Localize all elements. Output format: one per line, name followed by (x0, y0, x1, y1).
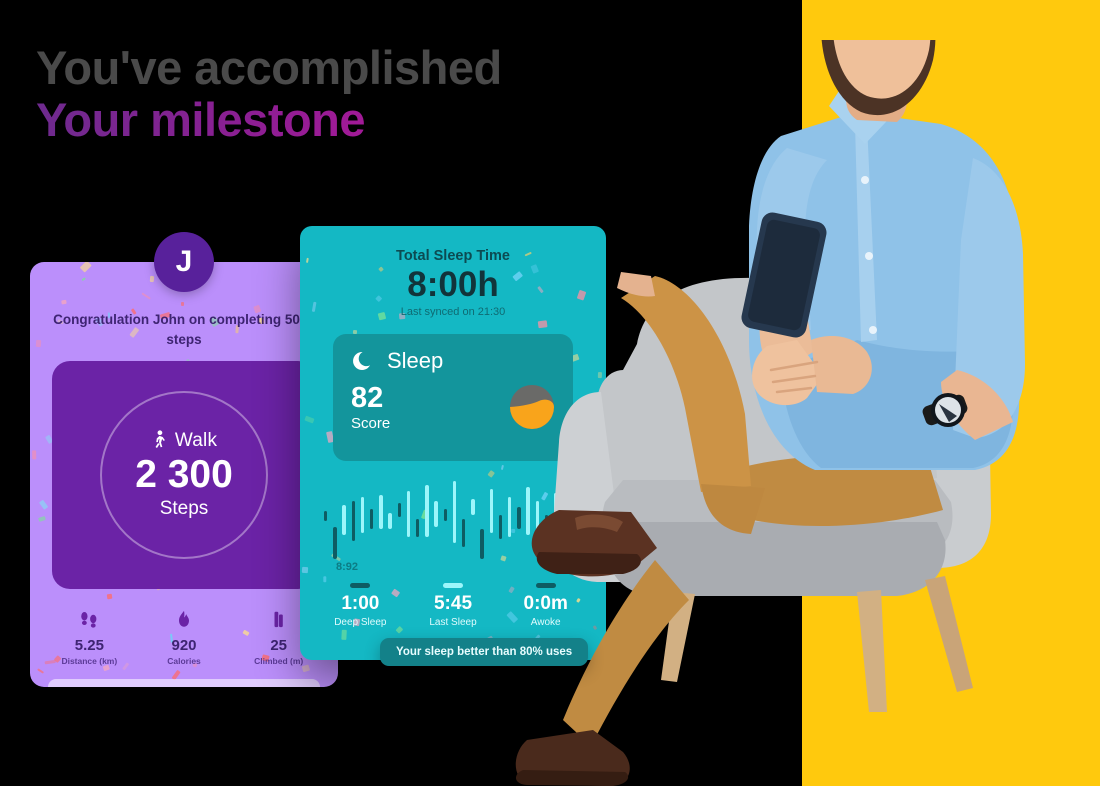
stat-deep-sleep: 1:00 Deep Sleep (314, 583, 407, 628)
waveform-bar (434, 501, 437, 527)
sleep-comparison-tooltip[interactable]: Your sleep better than 80% uses (380, 638, 588, 666)
stat-deep-sleep-value: 1:00 (314, 594, 407, 613)
stat-distance-label: Distance (km) (42, 656, 137, 666)
deep-sleep-dash (350, 583, 370, 588)
hero-stage: You've accomplished Your milestone Congr… (0, 0, 1100, 786)
sleep-score-caption: Score (351, 415, 390, 432)
sleep-score: 82 Score (351, 384, 390, 432)
sleep-score-value: 82 (351, 384, 390, 413)
axis-label-left: 8:92 (336, 561, 358, 573)
waveform-bar (499, 515, 502, 539)
walking-person-icon (151, 430, 167, 452)
stat-calories-value: 920 (137, 637, 232, 654)
stat-deep-sleep-label: Deep Sleep (314, 617, 407, 628)
waveform-bar (425, 485, 428, 537)
waveform-bar (407, 491, 410, 537)
stat-last-sleep-value: 5:45 (407, 594, 500, 613)
last-sleep-dash (443, 583, 463, 588)
waveform-bar (379, 495, 382, 529)
waveform-bar (361, 497, 364, 533)
stat-distance-value: 5.25 (42, 637, 137, 654)
steps-card[interactable]: Congratulation John on completing 5000 s… (30, 262, 338, 687)
steps-value: 2 300 (135, 454, 233, 497)
steps-stats-row: 5.25 Distance (km) 920 Calories (42, 605, 326, 666)
waveform-bar (444, 509, 447, 521)
avatar[interactable]: J (154, 232, 214, 292)
waveform-bar (370, 509, 373, 529)
walk-panel: Walk 2 300 Steps (52, 361, 316, 589)
stat-last-sleep-label: Last Sleep (407, 617, 500, 628)
walk-header: Walk (151, 430, 217, 452)
steps-unit: Steps (160, 498, 209, 520)
waveform-bar (453, 481, 456, 543)
footsteps-icon (42, 605, 137, 631)
moon-icon (351, 349, 375, 373)
stat-calories-label: Calories (137, 656, 232, 666)
hero-photo (505, 40, 1100, 786)
flame-icon (137, 605, 232, 631)
waveform-bar (352, 501, 355, 541)
waveform-bar (480, 529, 483, 559)
stat-distance: 5.25 Distance (km) (42, 605, 137, 666)
waveform-bar (416, 519, 419, 537)
waveform-bar (398, 503, 401, 517)
steps-progress-ring: Walk 2 300 Steps (100, 391, 268, 559)
sleep-panel-label: Sleep (387, 348, 443, 374)
waveform-bar (342, 505, 345, 535)
daily-goal-pill[interactable]: 30 Points away from your daily goal (48, 679, 320, 687)
walk-label: Walk (175, 430, 217, 452)
waveform-bar (333, 527, 336, 559)
stat-last-sleep: 5:45 Last Sleep (407, 583, 500, 628)
congratulation-message: Congratulation John on completing 5000 s… (48, 310, 320, 349)
waveform-bar (462, 519, 465, 547)
stat-calories: 920 Calories (137, 605, 232, 666)
waveform-bar (490, 489, 493, 533)
waveform-bar (471, 499, 474, 515)
waveform-bar (388, 513, 391, 529)
waveform-bar (324, 511, 327, 521)
